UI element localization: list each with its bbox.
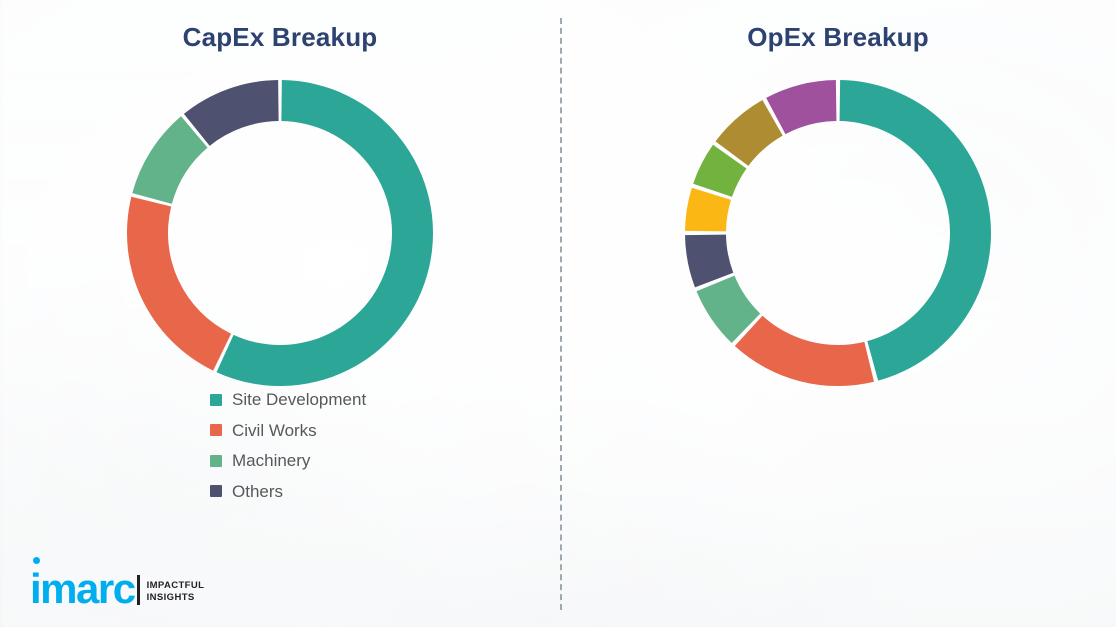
slide-canvas: CapEx Breakup Site Development Civil Wor… bbox=[0, 0, 1116, 627]
imarc-tagline-line2: INSIGHTS bbox=[147, 592, 205, 604]
legend-label-civil-works: Civil Works bbox=[232, 421, 317, 441]
imarc-wordmark-text: imarc bbox=[30, 565, 135, 612]
imarc-logo: imarc IMPACTFUL INSIGHTS bbox=[30, 570, 204, 609]
donut-slice[interactable] bbox=[840, 80, 991, 381]
capex-panel: CapEx Breakup Site Development Civil Wor… bbox=[0, 0, 560, 627]
legend-label-site-development: Site Development bbox=[232, 390, 366, 410]
logo-divider-bar bbox=[137, 575, 140, 605]
legend-label-machinery: Machinery bbox=[232, 451, 310, 471]
opex-donut-svg bbox=[685, 80, 991, 386]
opex-donut-chart bbox=[685, 80, 991, 386]
donut-slice[interactable] bbox=[132, 116, 207, 204]
imarc-tagline: IMPACTFUL INSIGHTS bbox=[147, 580, 205, 604]
donut-slice[interactable] bbox=[685, 188, 731, 232]
legend-swatch-civil-works bbox=[210, 424, 222, 436]
legend-item-site-development[interactable]: Site Development bbox=[210, 390, 366, 410]
capex-donut-chart bbox=[127, 80, 433, 386]
donut-slice[interactable] bbox=[217, 80, 433, 386]
legend-swatch-site-development bbox=[210, 394, 222, 406]
capex-legend: Site Development Civil Works Machinery O… bbox=[210, 390, 366, 501]
legend-swatch-others bbox=[210, 485, 222, 497]
donut-slice[interactable] bbox=[127, 197, 231, 371]
donut-slice[interactable] bbox=[735, 316, 874, 386]
imarc-wordmark: imarc bbox=[30, 570, 135, 609]
legend-item-machinery[interactable]: Machinery bbox=[210, 451, 366, 471]
legend-swatch-machinery bbox=[210, 455, 222, 467]
imarc-tagline-line1: IMPACTFUL bbox=[147, 580, 205, 592]
capex-donut-svg bbox=[127, 80, 433, 386]
legend-item-others[interactable]: Others bbox=[210, 482, 366, 502]
legend-item-civil-works[interactable]: Civil Works bbox=[210, 421, 366, 441]
opex-panel: OpEx Breakup Raw Materials Salaries and … bbox=[560, 0, 1116, 627]
capex-chart-title: CapEx Breakup bbox=[0, 22, 560, 53]
legend-label-others: Others bbox=[232, 482, 283, 502]
donut-slice[interactable] bbox=[184, 80, 279, 146]
opex-chart-title: OpEx Breakup bbox=[560, 22, 1116, 53]
